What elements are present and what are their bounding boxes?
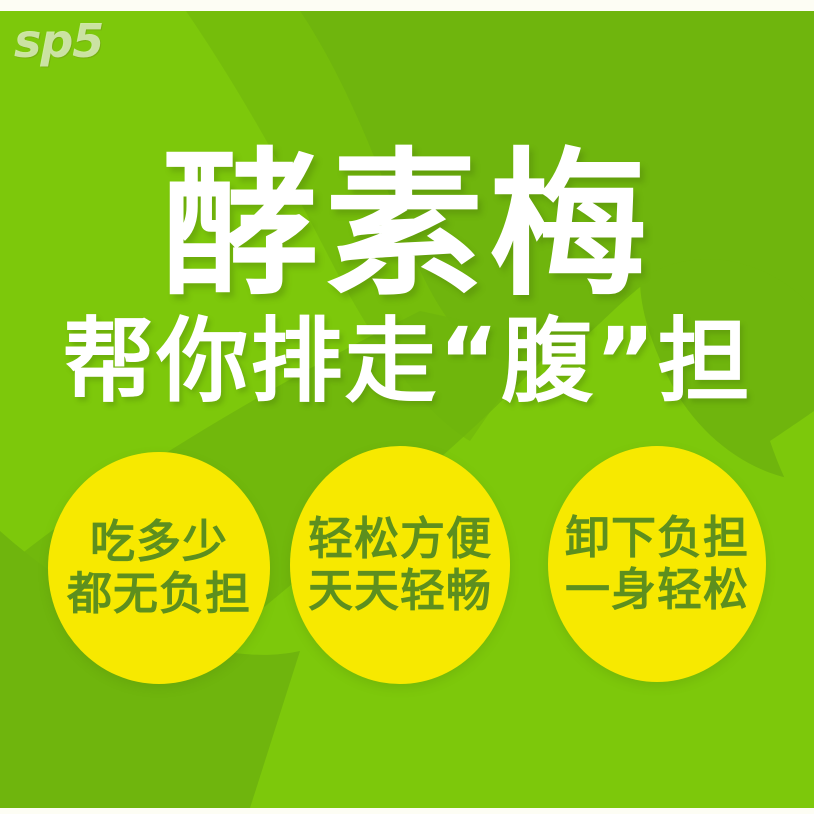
feature-bubble-1-line-2: 都无负担 <box>67 568 251 620</box>
feature-bubble-2-line-2: 天天轻畅 <box>308 565 492 617</box>
page-title: 酵素梅 <box>0 147 814 305</box>
feature-bubble-3-line-2: 一身轻松 <box>565 564 749 616</box>
top-edge-strip <box>0 0 814 11</box>
feature-bubble-1: 吃多少 都无负担 <box>48 452 270 684</box>
promo-poster: sp5 酵素梅 帮你排走“腹”担 吃多少 都无负担 轻松方便 天天轻畅 卸下负担… <box>0 0 814 814</box>
feature-bubble-2: 轻松方便 天天轻畅 <box>290 446 510 684</box>
feature-bubble-2-line-1: 轻松方便 <box>308 513 492 565</box>
feature-bubble-1-line-1: 吃多少 <box>90 516 228 568</box>
feature-bubble-3: 卸下负担 一身轻松 <box>548 446 766 682</box>
page-subtitle: 帮你排走“腹”担 <box>0 316 814 408</box>
bottom-edge-strip <box>0 808 814 814</box>
watermark-sp5: sp5 <box>14 14 103 68</box>
feature-bubble-3-line-1: 卸下负担 <box>565 512 749 564</box>
